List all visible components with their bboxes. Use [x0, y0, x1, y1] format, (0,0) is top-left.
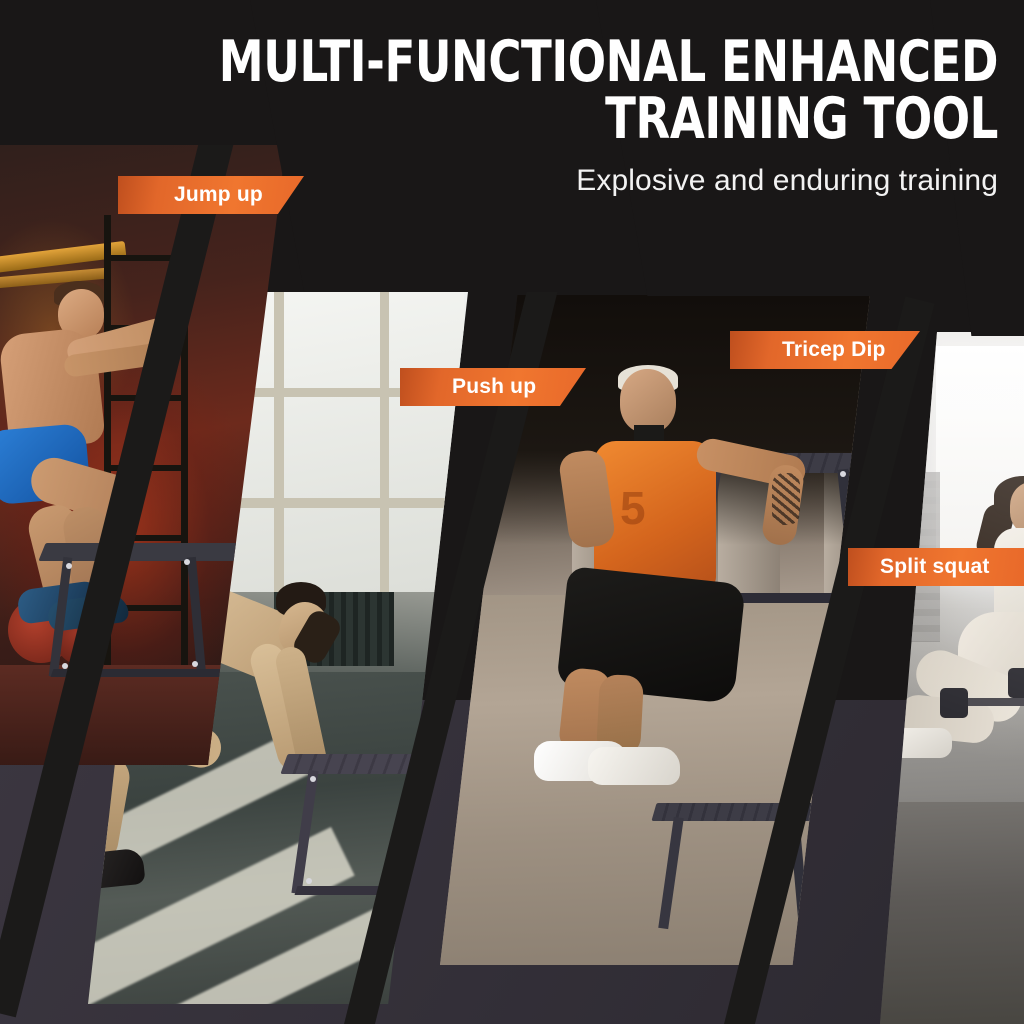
badge-split-squat: Split squat	[848, 548, 1024, 586]
header: MULTI-FUNCTIONAL ENHANCED TRAINING TOOL …	[0, 34, 1024, 198]
athlete-tricep-dip: 5	[536, 369, 836, 809]
tattoo	[772, 473, 800, 525]
jersey-number: 5	[620, 481, 646, 535]
badge-label: Split squat	[880, 555, 990, 579]
badge-tricep-dip: Tricep Dip	[730, 331, 920, 369]
badge-label: Push up	[452, 375, 536, 399]
page-title: MULTI-FUNCTIONAL ENHANCED TRAINING TOOL	[120, 34, 998, 148]
badge-label: Tricep Dip	[782, 338, 886, 362]
product-poster: 5	[0, 0, 1024, 1024]
plyo-box	[284, 754, 468, 906]
badge-label: Jump up	[174, 183, 263, 207]
title-line-2: TRAINING TOOL	[120, 91, 998, 148]
badge-jump-up: Jump up	[118, 176, 304, 214]
badge-push-up: Push up	[400, 368, 586, 406]
